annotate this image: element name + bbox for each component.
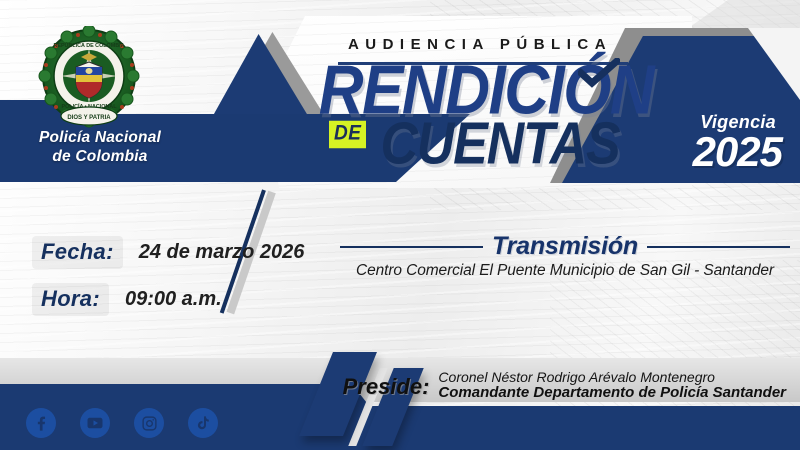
policia-nacional-emblem: REPÚBLICA DE COLOMBIA POLICÍA • NACIONAL… — [36, 26, 142, 130]
organization-name: Policía Nacional de Colombia — [0, 128, 200, 167]
organization-name-line2: de Colombia — [52, 148, 147, 165]
fecha-label: Fecha: — [32, 236, 123, 269]
preside-label: Preside: — [343, 374, 430, 402]
organization-name-line1: Policía Nacional — [39, 129, 161, 146]
youtube-icon[interactable] — [80, 408, 110, 438]
vigencia-year: 2025 — [622, 131, 782, 173]
preside-name: Coronel Néstor Rodrigo Arévalo Montenegr… — [438, 370, 715, 386]
svg-text:DIOS Y PATRIA: DIOS Y PATRIA — [67, 115, 111, 121]
hora-row: Hora: 09:00 a.m. — [32, 283, 222, 316]
fecha-row: Fecha: 24 de marzo 2026 — [32, 236, 304, 269]
hora-value: 09:00 a.m. — [125, 288, 222, 311]
kicker-text: AUDIENCIA PÚBLICA — [330, 36, 630, 53]
preside-details: Coronel Néstor Rodrigo Arévalo Montenegr… — [438, 370, 786, 402]
instagram-icon[interactable] — [134, 408, 164, 438]
fecha-value: 24 de marzo 2026 — [139, 241, 305, 264]
policia-nacional-colombia-emblem-icon: REPÚBLICA DE COLOMBIA POLICÍA • NACIONAL… — [36, 26, 142, 130]
transmision-heading: Transmisión — [340, 232, 790, 261]
social-links — [26, 408, 218, 438]
transmision-rule-right — [647, 246, 790, 248]
transmision-title: Transmisión — [492, 232, 638, 261]
hora-label: Hora: — [32, 283, 109, 316]
tiktok-icon[interactable] — [188, 408, 218, 438]
facebook-icon[interactable] — [26, 408, 56, 438]
transmision-rule-left — [340, 246, 483, 248]
transmision-location: Centro Comercial El Puente Municipio de … — [330, 262, 800, 280]
preside-role: Comandante Departamento de Policía Santa… — [438, 385, 786, 402]
check-mark-icon — [578, 58, 620, 88]
preside-block: Preside: Coronel Néstor Rodrigo Arévalo … — [343, 370, 786, 402]
rendicion-de-cuentas-poster: REPÚBLICA DE COLOMBIA POLICÍA • NACIONAL… — [0, 0, 800, 450]
svg-text:REPÚBLICA DE COLOMBIA: REPÚBLICA DE COLOMBIA — [53, 42, 124, 49]
